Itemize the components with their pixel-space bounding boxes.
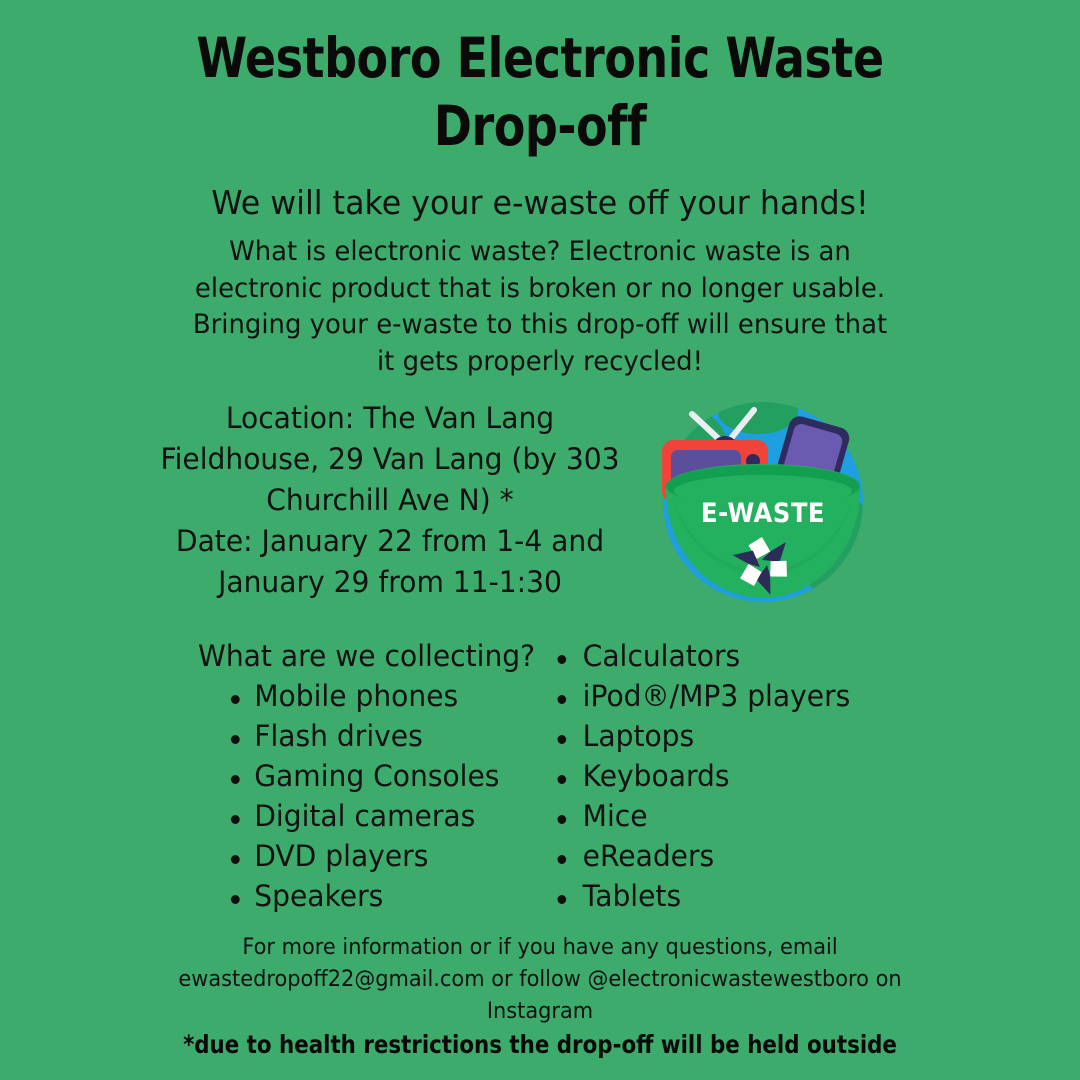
e-waste-illustration-svg: E-WASTE [662, 396, 864, 608]
title-line-1: Westboro Electronic Waste [122, 24, 959, 92]
e-waste-bin-globe-icon: E-WASTE [662, 396, 864, 608]
list-item: Calculators [540, 636, 889, 676]
list-item: Keyboards [540, 756, 889, 796]
collecting-heading: What are we collecting? [198, 636, 528, 676]
health-restriction-note: *due to health restrictions the drop-off… [84, 1028, 996, 1062]
list-item: Mobile phones [198, 676, 528, 716]
contact-info: For more information or if you have any … [170, 932, 911, 1028]
list-item: Tablets [540, 876, 889, 916]
date-line-1: Date: January 22 from 1-4 and [118, 521, 661, 562]
poster-canvas: Westboro Electronic Waste Drop-off We wi… [0, 0, 1080, 1080]
bin-label: E-WASTE [701, 498, 825, 529]
collecting-column-left: What are we collecting? Mobile phones Fl… [198, 636, 538, 916]
location-date-block: Location: The Van Lang Fieldhouse, 29 Va… [118, 398, 661, 603]
collecting-list-right: Calculators iPod®/MP3 players Laptops Ke… [540, 636, 900, 916]
intro-paragraph: What is electronic waste? Electronic was… [192, 234, 887, 380]
list-item: DVD players [198, 836, 528, 876]
collecting-column-right: Calculators iPod®/MP3 players Laptops Ke… [540, 636, 900, 916]
title-line-2: Drop-off [122, 92, 959, 160]
collecting-section: What are we collecting? Mobile phones Fl… [0, 636, 1080, 916]
collecting-list-left: Mobile phones Flash drives Gaming Consol… [198, 676, 538, 916]
list-item: Speakers [198, 876, 528, 916]
list-item: Gaming Consoles [198, 756, 528, 796]
location-line-1: Location: The Van Lang [118, 398, 661, 439]
list-item: eReaders [540, 836, 889, 876]
location-line-3: Churchill Ave N) * [118, 480, 661, 521]
date-line-2: January 29 from 11-1:30 [118, 562, 661, 603]
list-item: Digital cameras [198, 796, 528, 836]
page-title: Westboro Electronic Waste Drop-off [90, 24, 990, 160]
list-item: Laptops [540, 716, 889, 756]
list-item: Flash drives [198, 716, 528, 756]
list-item: iPod®/MP3 players [540, 676, 889, 716]
tagline: We will take your e-waste off your hands… [79, 182, 1001, 224]
list-item: Mice [540, 796, 889, 836]
location-line-2: Fieldhouse, 29 Van Lang (by 303 [118, 439, 661, 480]
